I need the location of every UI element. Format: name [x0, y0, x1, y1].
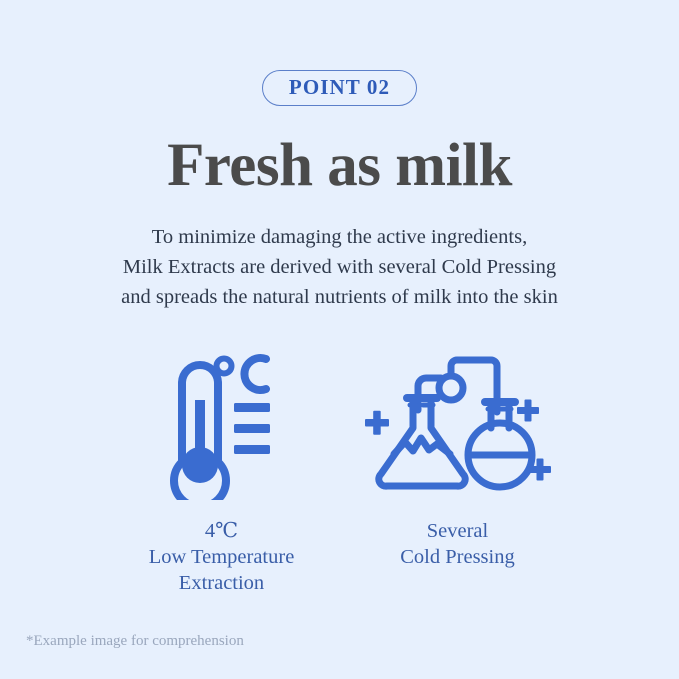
flasks-icon-wrap — [363, 350, 553, 500]
thermometer-celsius-icon — [162, 350, 282, 500]
feature-icon-row: 4℃ Low Temperature Extraction — [0, 350, 679, 596]
feature-low-temperature: 4℃ Low Temperature Extraction — [104, 350, 340, 596]
caption-line-2: Cold Pressing — [400, 544, 514, 570]
body-line-1: To minimize damaging the active ingredie… — [0, 222, 679, 252]
caption-line-1: 4℃ — [149, 518, 295, 544]
caption-line-3: Extraction — [149, 570, 295, 596]
body-line-2: Milk Extracts are derived with several C… — [0, 252, 679, 282]
caption-line-1: Several — [400, 518, 514, 544]
caption-cold-pressing: Several Cold Pressing — [400, 518, 514, 570]
feature-cold-pressing: Several Cold Pressing — [340, 350, 576, 570]
body-line-3: and spreads the natural nutrients of mil… — [0, 282, 679, 312]
promo-slide: POINT 02 Fresh as milk To minimize damag… — [0, 0, 679, 679]
lab-flasks-icon — [363, 350, 553, 500]
page-title: Fresh as milk — [0, 133, 679, 199]
footnote: *Example image for comprehension — [26, 634, 244, 649]
badge-row: POINT 02 — [0, 70, 679, 106]
point-badge: POINT 02 — [262, 70, 417, 106]
body-copy: To minimize damaging the active ingredie… — [0, 222, 679, 312]
caption-low-temperature: 4℃ Low Temperature Extraction — [149, 518, 295, 596]
thermometer-icon-wrap — [162, 350, 282, 500]
caption-line-2: Low Temperature — [149, 544, 295, 570]
